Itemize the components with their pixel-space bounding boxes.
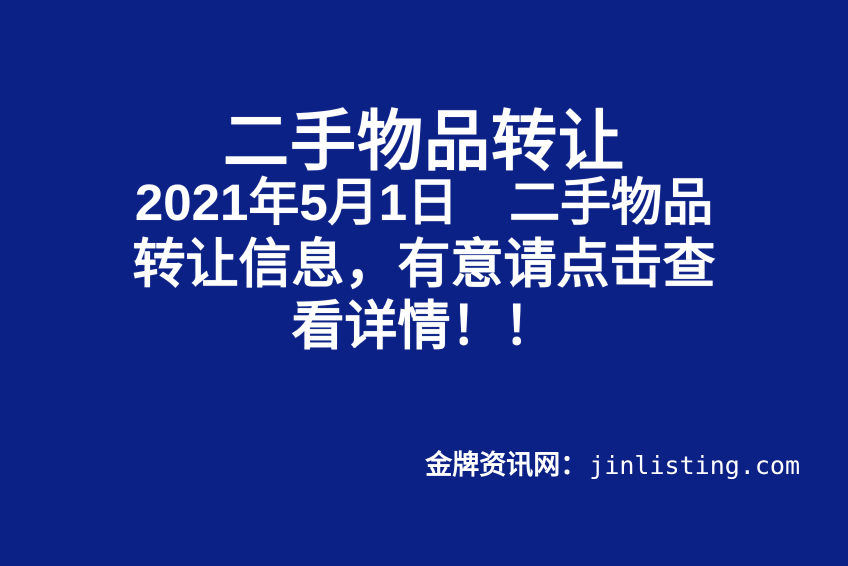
message-line-1: 2021年5月1日 二手物品 [0, 172, 848, 234]
footer-watermark: 金牌资讯网： jinlisting.com [425, 448, 800, 483]
message-line-3: 看详情！！ [0, 296, 848, 358]
message-line-2: 转让信息，有意请点击查 [0, 234, 848, 296]
message-body: 2021年5月1日 二手物品 转让信息，有意请点击查 看详情！！ [0, 172, 848, 358]
site-url-link[interactable]: jinlisting.com [589, 449, 800, 483]
promo-poster: 二手物品转让 2021年5月1日 二手物品 转让信息，有意请点击查 看详情！！ … [0, 0, 848, 566]
site-name-label: 金牌资讯网： [425, 448, 587, 482]
